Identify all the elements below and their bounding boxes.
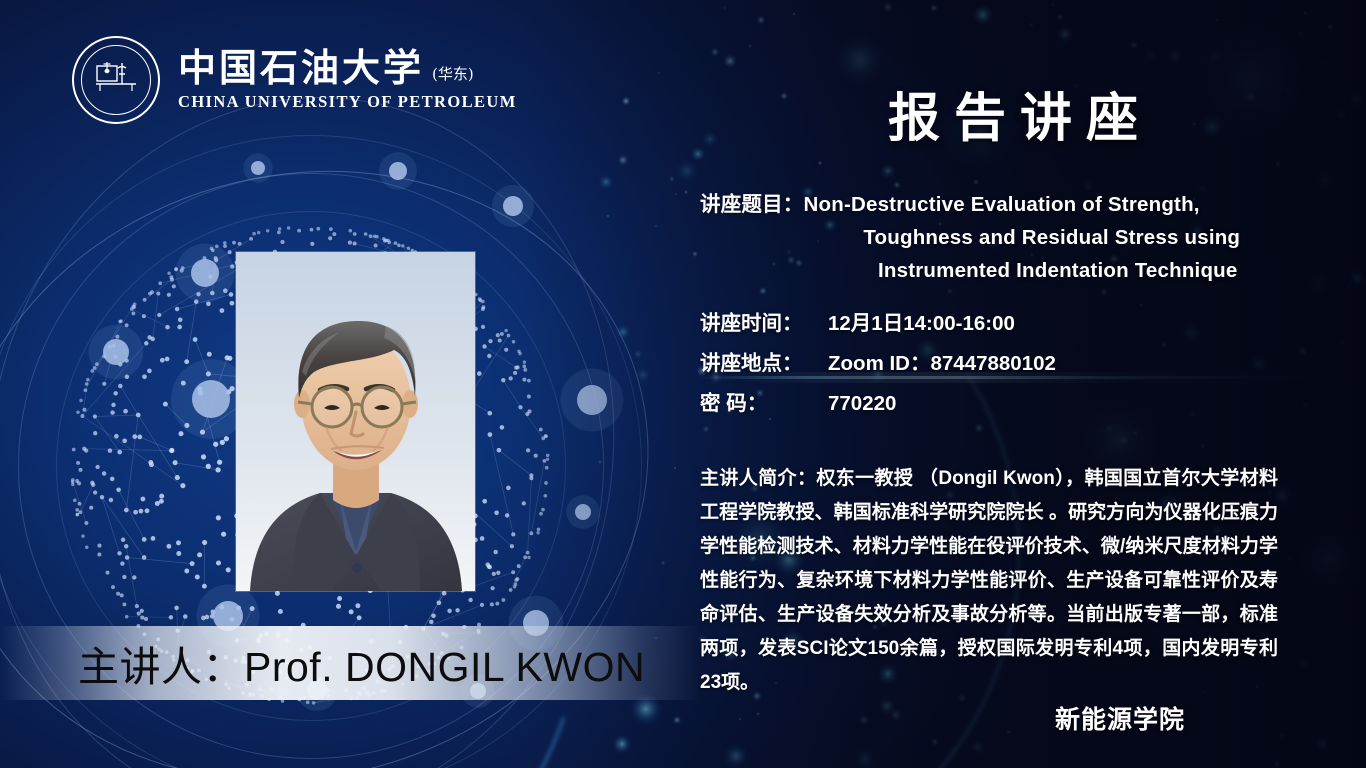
university-name-block: 中国石油大学 (华东) CHINA UNIVERSITY OF PETROLEU… xyxy=(178,48,517,112)
page-title: 报告讲座 xyxy=(810,76,1230,151)
lecture-info-block: 讲座题目： Non-Destructive Evaluation of Stre… xyxy=(700,188,1300,424)
lecture-location-value: Zoom ID：87447880102 xyxy=(828,344,1300,384)
lecture-detail-list: 讲座时间： 12月1日14:00-16:00 讲座地点： Zoom ID：874… xyxy=(700,304,1300,424)
lecture-detail-row-time: 讲座时间： 12月1日14:00-16:00 xyxy=(700,304,1300,344)
department-name: 新能源学院 xyxy=(1055,700,1185,736)
seal-emblem-icon xyxy=(94,60,138,100)
lecture-time-value: 12月1日14:00-16:00 xyxy=(828,304,1300,344)
lecture-password-label: 密 码： xyxy=(700,384,828,424)
university-name-cn: 中国石油大学 (华东) xyxy=(178,48,517,88)
lecture-time-label: 讲座时间： xyxy=(700,304,828,344)
speaker-bio: 主讲人简介：权东一教授 （Dongil Kwon），韩国国立首尔大学材料工程学院… xyxy=(700,462,1278,700)
university-name-cn-suffix: (华东) xyxy=(432,67,474,83)
lecture-detail-row-password: 密 码： 770220 xyxy=(700,384,1300,424)
university-seal-icon xyxy=(72,36,160,124)
lecture-topic-line2: Toughness and Residual Stress using xyxy=(804,221,1301,254)
university-name-cn-main: 中国石油大学 xyxy=(178,48,424,88)
lecture-location-label: 讲座地点： xyxy=(700,344,828,384)
university-logo: 中国石油大学 (华东) CHINA UNIVERSITY OF PETROLEU… xyxy=(72,36,517,124)
speaker-portrait xyxy=(236,252,475,591)
lecture-topic-line1: Non-Destructive Evaluation of Strength, xyxy=(804,193,1200,216)
poster-canvas: 中国石油大学 (华东) CHINA UNIVERSITY OF PETROLEU… xyxy=(0,0,1366,768)
lecture-topic: 讲座题目： Non-Destructive Evaluation of Stre… xyxy=(700,188,1300,288)
speaker-portrait-image xyxy=(236,252,475,591)
lecture-topic-label: 讲座题目： xyxy=(700,188,804,288)
lecture-topic-value: Non-Destructive Evaluation of Strength, … xyxy=(804,188,1301,288)
lecture-detail-row-location: 讲座地点： Zoom ID：87447880102 xyxy=(700,344,1300,384)
speaker-name-text: 主讲人：Prof. DONGIL KWON xyxy=(78,626,645,700)
university-name-en: CHINA UNIVERSITY OF PETROLEUM xyxy=(178,92,517,112)
lecture-topic-line3: Instrumented Indentation Technique xyxy=(804,254,1301,287)
lecture-password-value: 770220 xyxy=(828,384,1300,424)
